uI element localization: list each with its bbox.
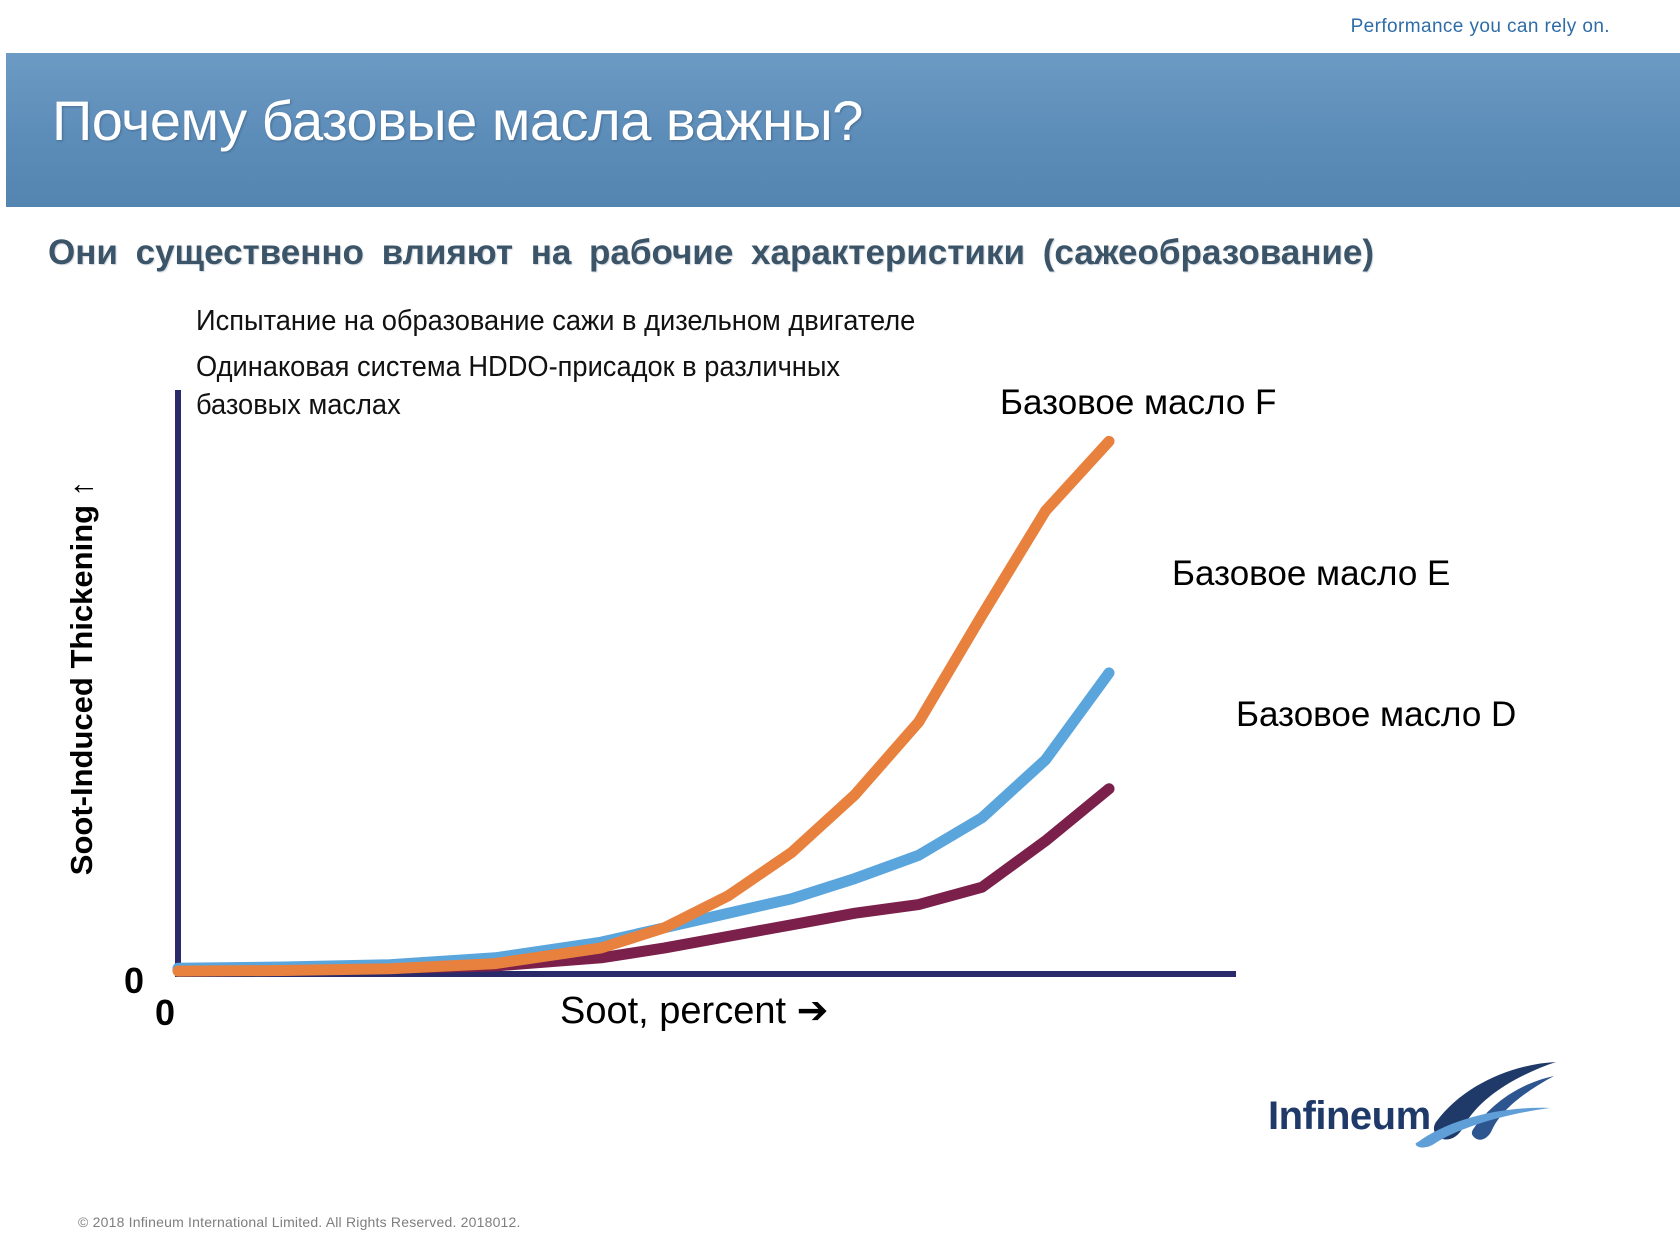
plot-series [178, 441, 1109, 971]
infineum-wordmark: Infineum [1268, 1094, 1431, 1139]
copyright-text: © 2018 Infineum International Limited. A… [78, 1214, 521, 1230]
slide-root: Performance you can rely on. Почему базо… [0, 0, 1680, 1251]
title-band-left-edge [0, 53, 6, 207]
slide-subtitle: Они существенно влияют на рабочие характ… [48, 233, 1374, 273]
infineum-logo: Infineum [1268, 1058, 1558, 1148]
page-title: Почему базовые масла важны? [52, 88, 863, 153]
series-label-e: Базовое масло E [1172, 554, 1450, 594]
series-label-f: Базовое масло F [1000, 383, 1276, 423]
plot-canvas [0, 280, 1680, 1070]
brand-tagline: Performance you can rely on. [1351, 16, 1610, 38]
series-label-d: Базовое масло D [1236, 695, 1516, 735]
chart: Испытание на образование сажи в дизельно… [0, 280, 1680, 1070]
top-strip: Performance you can rely on. [0, 0, 1680, 53]
